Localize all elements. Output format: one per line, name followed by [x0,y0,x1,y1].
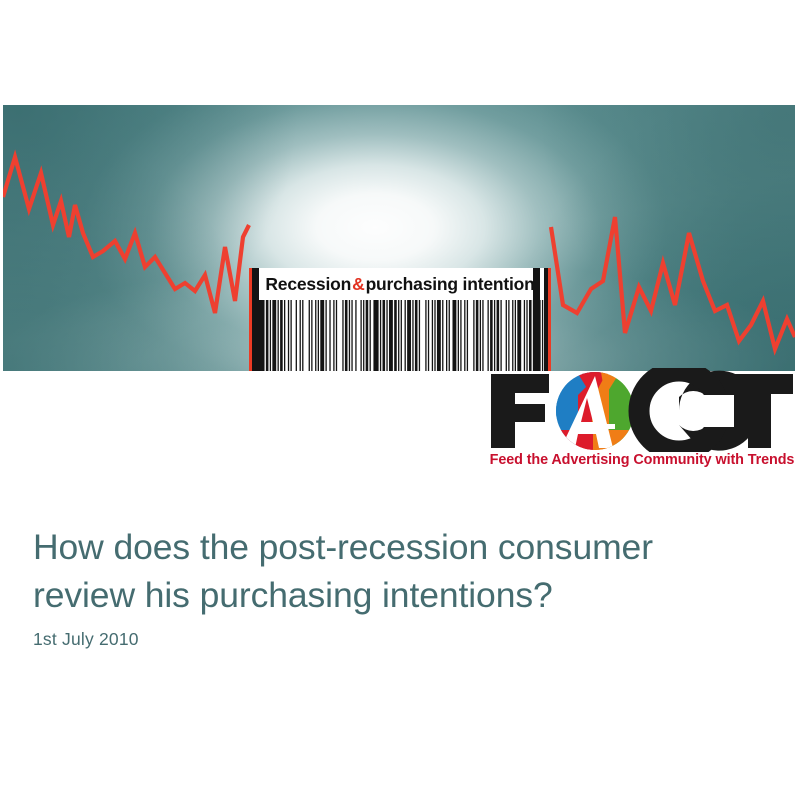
fact-logo-tagline: Feed the Advertising Community with Tren… [489,452,795,468]
barcode-caption-suffix: purchasing intention [366,274,535,295]
trendline-left-segment [3,157,249,313]
slide-canvas: Recession & purchasing intention [0,0,800,800]
slide-date: 1st July 2010 [33,629,139,650]
barcode-guard-bar-left [252,268,259,371]
fact-letter-f-icon [491,374,549,448]
barcode-graphic: Recession & purchasing intention [249,268,551,371]
page-title-line-2: review his purchasing intentions? [33,575,553,615]
hero-banner: Recession & purchasing intention [3,105,795,371]
barcode-caption-ampersand: & [351,274,365,295]
barcode-guard-bar-right [533,268,540,371]
fact-letter-a-colorwheel-icon [556,372,634,452]
barcode-accent-edge-right [548,268,551,371]
trendline-right-segment [551,217,795,349]
title-block: How does the post-recession consumer rev… [33,523,763,619]
fact-logo-wordmark [489,368,795,452]
page-title-line-1: How does the post-recession consumer [33,527,653,567]
barcode-caption: Recession & purchasing intention [249,268,551,300]
page-title: How does the post-recession consumer rev… [33,523,763,619]
barcode-caption-prefix: Recession [265,274,351,295]
fact-logo: Feed the Advertising Community with Tren… [489,368,795,480]
barcode-bars [249,293,551,371]
barcode-accent-edge-left [249,268,252,371]
